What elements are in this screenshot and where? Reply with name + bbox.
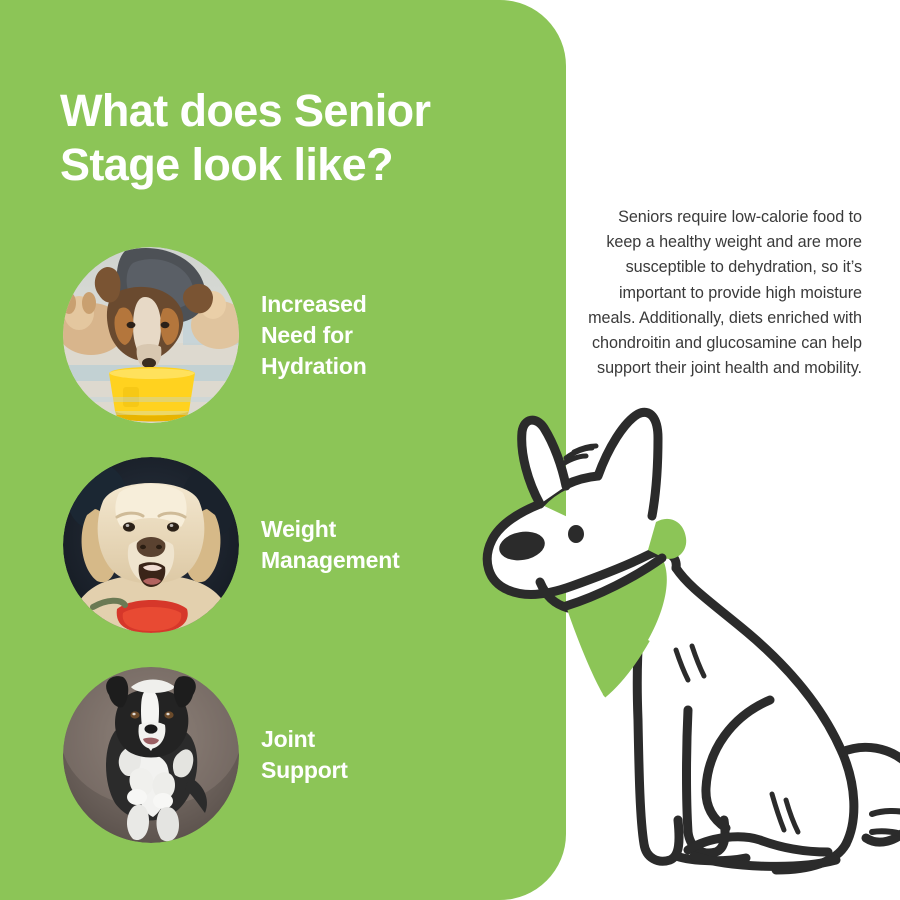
page-title-line-2: Stage look like? bbox=[60, 138, 490, 192]
feature-row: Weight Management bbox=[63, 457, 533, 633]
senior-golden-retriever-photo bbox=[63, 457, 239, 633]
feature-row: Joint Support bbox=[63, 667, 533, 843]
feature-label: Increased Need for Hydration bbox=[261, 289, 367, 382]
infographic-canvas: What does Senior Stage look like? bbox=[0, 0, 900, 900]
feature-row: Increased Need for Hydration bbox=[63, 247, 533, 423]
dog-drinking-from-yellow-bowl-photo bbox=[63, 247, 239, 423]
body-paragraph: Seniors require low-calorie food to keep… bbox=[582, 205, 862, 381]
page-title: What does Senior Stage look like? bbox=[60, 84, 490, 192]
jumping-border-collie-photo bbox=[63, 667, 239, 843]
sitting-dog-line-drawing bbox=[480, 400, 900, 900]
page-title-line-1: What does Senior bbox=[60, 84, 490, 138]
dog-eye bbox=[568, 525, 584, 543]
feature-label: Weight Management bbox=[261, 514, 400, 576]
feature-label: Joint Support bbox=[261, 724, 348, 786]
